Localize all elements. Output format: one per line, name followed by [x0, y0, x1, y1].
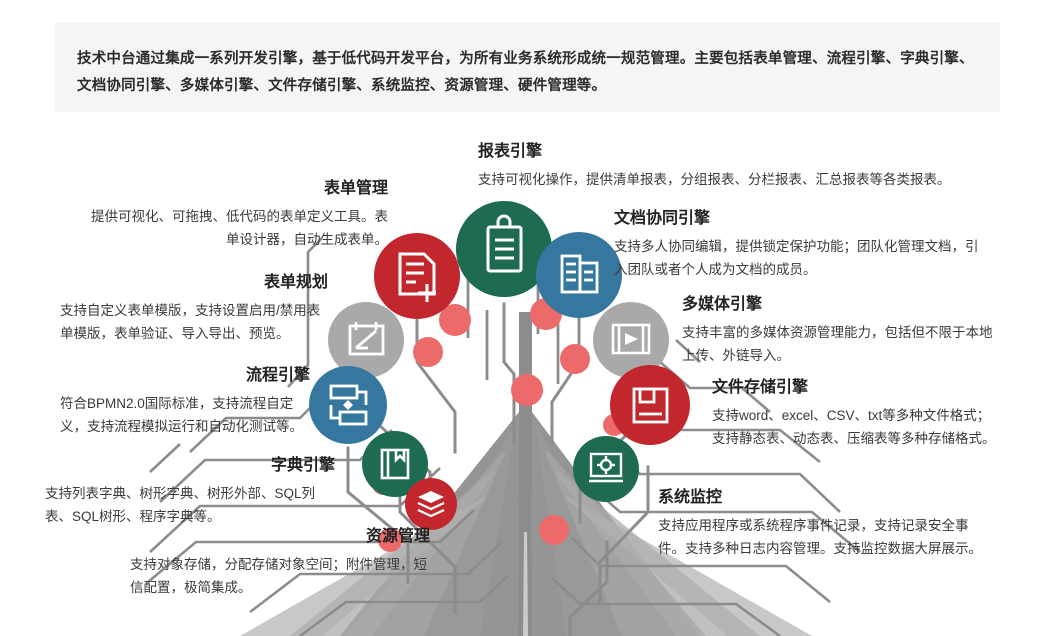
- feature-block-flow-engine: 流程引擎 符合BPMN2.0国际标准，支持流程自定义，支持流程模拟运行和自动化测…: [60, 365, 310, 438]
- feature-title-report-engine: 报表引擎: [478, 141, 998, 163]
- feature-title-system-monitoring: 系统监控: [658, 487, 988, 509]
- intro-text: 技术中台通过集成一系列开发引擎，基于低代码开发平台，为所有业务系统形成统一规范管…: [77, 46, 978, 100]
- feature-block-document-collaboration: 文档协同引擎 支持多人协同编辑，提供锁定保护功能；团队化管理文档，引入团队或者个…: [614, 208, 986, 281]
- feature-body-flow-engine: 符合BPMN2.0国际标准，支持流程自定义，支持流程模拟运行和自动化测试等。: [60, 392, 310, 438]
- feature-block-report-engine: 报表引擎 支持可视化操作，提供清单报表，分组报表、分栏报表、汇总报表等各类报表。: [478, 141, 998, 191]
- feature-title-document-collaboration: 文档协同引擎: [614, 208, 986, 230]
- feature-body-form-management: 提供可视化、可拖拽、低代码的表单定义工具。表单设计器，自动生成表单。: [88, 205, 388, 251]
- node-document-collaboration[interactable]: [536, 232, 622, 318]
- node-resource-management[interactable]: [405, 478, 457, 530]
- feature-body-document-collaboration: 支持多人协同编辑，提供锁定保护功能；团队化管理文档，引入团队或者个人成为文档的成…: [614, 235, 986, 281]
- feature-title-file-storage-engine: 文件存储引擎: [712, 377, 1002, 399]
- feature-body-form-planning: 支持自定义表单模版，支持设置启用/禁用表单模版，表单验证、导入导出、预览。: [60, 299, 328, 345]
- feature-block-file-storage-engine: 文件存储引擎 支持word、excel、CSV、txt等多种文件格式；支持静态表…: [712, 377, 1002, 450]
- node-file-storage-engine[interactable]: [610, 365, 690, 445]
- feature-title-multimedia-engine: 多媒体引擎: [682, 294, 1002, 316]
- feature-body-file-storage-engine: 支持word、excel、CSV、txt等多种文件格式；支持静态表、动态表、压缩…: [712, 404, 1002, 450]
- feature-block-dictionary-engine: 字典引擎 支持列表字典、树形字典、树形外部、SQL列表、SQL树形、程序字典等。: [45, 455, 335, 528]
- infographic-root: 技术中台通过集成一系列开发引擎，基于低代码开发平台，为所有业务系统形成统一规范管…: [0, 0, 1051, 636]
- feature-title-resource-management: 资源管理: [130, 526, 430, 548]
- node-flow-engine[interactable]: [309, 366, 387, 444]
- feature-body-system-monitoring: 支持应用程序或系统程序事件记录，支持记录安全事件。支持多种日志内容管理。支持监控…: [658, 514, 988, 560]
- feature-title-dictionary-engine: 字典引擎: [45, 455, 335, 477]
- feature-block-system-monitoring: 系统监控 支持应用程序或系统程序事件记录，支持记录安全事件。支持多种日志内容管理…: [658, 487, 988, 560]
- intro-panel: 技术中台通过集成一系列开发引擎，基于低代码开发平台，为所有业务系统形成统一规范管…: [55, 22, 1000, 112]
- feature-body-report-engine: 支持可视化操作，提供清单报表，分组报表、分栏报表、汇总报表等各类报表。: [478, 168, 998, 191]
- node-form-planning[interactable]: [328, 302, 404, 378]
- feature-block-form-management: 表单管理 提供可视化、可拖拽、低代码的表单定义工具。表单设计器，自动生成表单。: [88, 178, 388, 251]
- feature-block-form-planning: 表单规划 支持自定义表单模版，支持设置启用/禁用表单模版，表单验证、导入导出、预…: [60, 272, 328, 345]
- feature-title-flow-engine: 流程引擎: [60, 365, 310, 387]
- feature-body-resource-management: 支持对象存储，分配存储对象空间；附件管理，短信配置，极简集成。: [130, 553, 430, 599]
- feature-body-multimedia-engine: 支持丰富的多媒体资源管理能力，包括但不限于本地上传、外链导入。: [682, 321, 1002, 367]
- feature-block-multimedia-engine: 多媒体引擎 支持丰富的多媒体资源管理能力，包括但不限于本地上传、外链导入。: [682, 294, 1002, 367]
- node-system-monitoring[interactable]: [573, 436, 639, 502]
- feature-block-resource-management: 资源管理 支持对象存储，分配存储对象空间；附件管理，短信配置，极简集成。: [130, 526, 430, 599]
- feature-title-form-management: 表单管理: [88, 178, 388, 200]
- feature-body-dictionary-engine: 支持列表字典、树形字典、树形外部、SQL列表、SQL树形、程序字典等。: [45, 482, 335, 528]
- feature-title-form-planning: 表单规划: [60, 272, 328, 294]
